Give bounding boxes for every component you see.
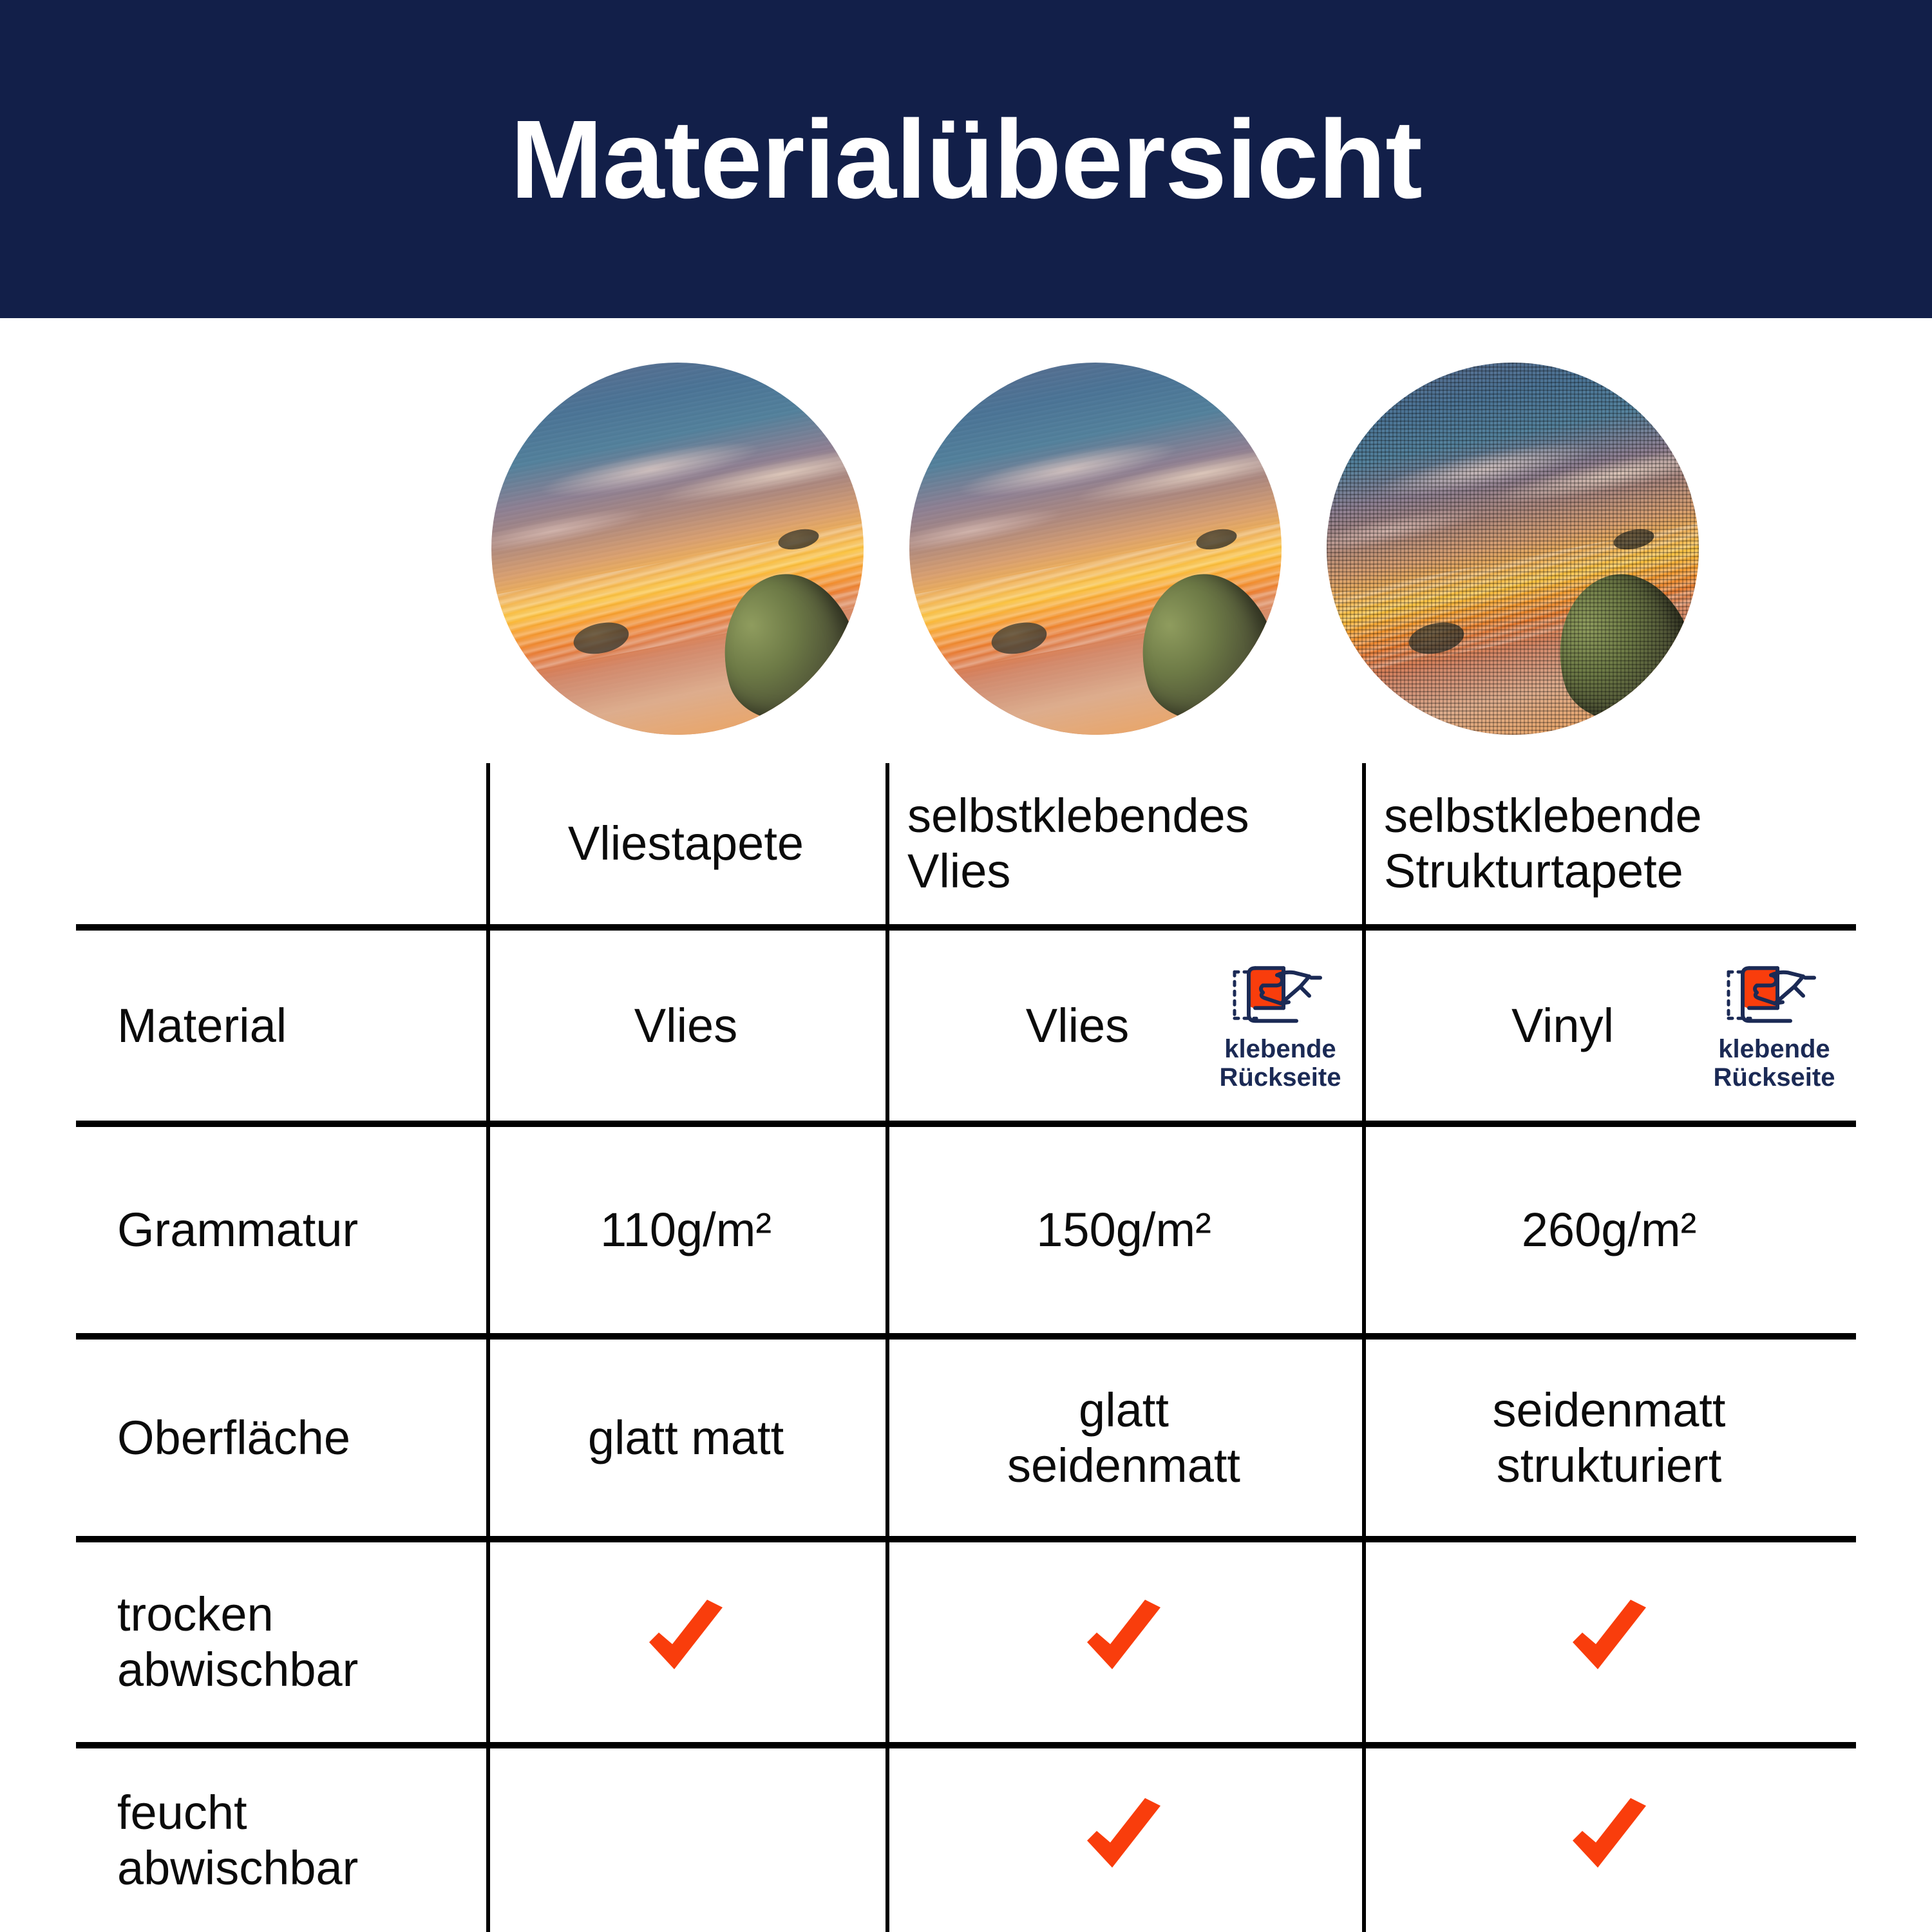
cell-feucht-vliestapete [486, 1748, 885, 1932]
vliestapete-sample-image [491, 363, 864, 735]
row-label-oberflaeche: Oberfläche [76, 1340, 486, 1536]
header-label-col2: selbstklebendes Vlies [907, 788, 1249, 899]
page-header: Materialübersicht [0, 0, 1932, 318]
header-cell-empty [76, 763, 486, 924]
adhesive-back-badge: klebende Rückseite [1206, 959, 1354, 1093]
cell-material-selbstklebende-strukturtapete: Vinyl [1362, 931, 1856, 1121]
header-cell-vliestapete: Vliestapete [486, 763, 885, 924]
cell-trocken-vliestapete [486, 1542, 885, 1742]
row-divider-3 [76, 1333, 1856, 1340]
adhesive-back-badge-text: klebende Rückseite [1714, 1035, 1835, 1093]
row-label-grammatur: Grammatur [76, 1127, 486, 1333]
selbstklebende-strukturtapete-sample-image [1327, 363, 1699, 735]
table-row: trocken abwischbar [76, 1542, 1856, 1742]
check-icon [1075, 1594, 1172, 1690]
table-row: Oberfläche glatt matt glatt seidenmatt s… [76, 1340, 1856, 1536]
cell-grammatur-vliestapete: 110g/m² [486, 1127, 885, 1333]
cell-trocken-selbstklebendes-vlies [885, 1542, 1362, 1742]
material-overview-page: Materialübersicht [0, 0, 1932, 1932]
table-row: Material Vlies Vlies [76, 931, 1856, 1121]
cell-feucht-selbstklebende-strukturtapete [1362, 1748, 1856, 1932]
cell-oberflaeche-vliestapete: glatt matt [486, 1340, 885, 1536]
row-divider-5 [76, 1742, 1856, 1748]
cell-oberflaeche-selbstklebende-strukturtapete: seidenmatt strukturiert [1362, 1340, 1856, 1536]
cell-material-vliestapete: Vlies [486, 931, 885, 1121]
header-cell-selbstklebende-strukturtapete: selbstklebende Strukturtapete [1362, 763, 1856, 924]
woven-structure-texture-overlay [1327, 363, 1699, 735]
peel-adhesive-back-icon [1226, 959, 1335, 1031]
check-icon [1075, 1792, 1172, 1889]
cell-material-selbstklebendes-vlies: Vlies [885, 931, 1362, 1121]
sample-images-row [0, 363, 1932, 736]
table-header-row: Vliestapete selbstklebendes Vlies selbst… [76, 763, 1856, 924]
selbstklebendes-vlies-sample-image [909, 363, 1282, 735]
beach-sunset-photo [491, 363, 864, 735]
header-cell-selbstklebendes-vlies: selbstklebendes Vlies [885, 763, 1362, 924]
page-title: Materialübersicht [510, 104, 1422, 215]
beach-sunset-photo [1327, 363, 1699, 735]
header-label-col3: selbstklebende Strukturtapete [1384, 788, 1702, 899]
cell-grammatur-selbstklebende-strukturtapete: 260g/m² [1362, 1127, 1856, 1333]
row-divider-2 [76, 1121, 1856, 1127]
row-divider-4 [76, 1536, 1856, 1542]
adhesive-back-badge: klebende Rückseite [1700, 959, 1848, 1093]
beach-sunset-photo [909, 363, 1282, 735]
check-icon [1561, 1594, 1658, 1690]
cell-feucht-selbstklebendes-vlies [885, 1748, 1362, 1932]
cell-grammatur-selbstklebendes-vlies: 150g/m² [885, 1127, 1362, 1333]
row-divider-1 [76, 924, 1856, 931]
header-label-col1: Vliestapete [568, 816, 804, 871]
row-label-feucht-abwischbar: feucht abwischbar [76, 1748, 486, 1932]
row-label-material: Material [76, 931, 486, 1121]
check-icon [638, 1594, 734, 1690]
check-icon [1561, 1792, 1658, 1889]
peel-adhesive-back-icon [1719, 959, 1829, 1031]
row-label-trocken-abwischbar: trocken abwischbar [76, 1542, 486, 1742]
material-comparison-table: Vliestapete selbstklebendes Vlies selbst… [76, 763, 1856, 1932]
table-row: feucht abwischbar [76, 1748, 1856, 1932]
table-row: Grammatur 110g/m² 150g/m² 260g/m² [76, 1127, 1856, 1333]
adhesive-back-badge-text: klebende Rückseite [1220, 1035, 1341, 1093]
no-check-placeholder [686, 1840, 687, 1841]
cell-oberflaeche-selbstklebendes-vlies: glatt seidenmatt [885, 1340, 1362, 1536]
cell-trocken-selbstklebende-strukturtapete [1362, 1542, 1856, 1742]
